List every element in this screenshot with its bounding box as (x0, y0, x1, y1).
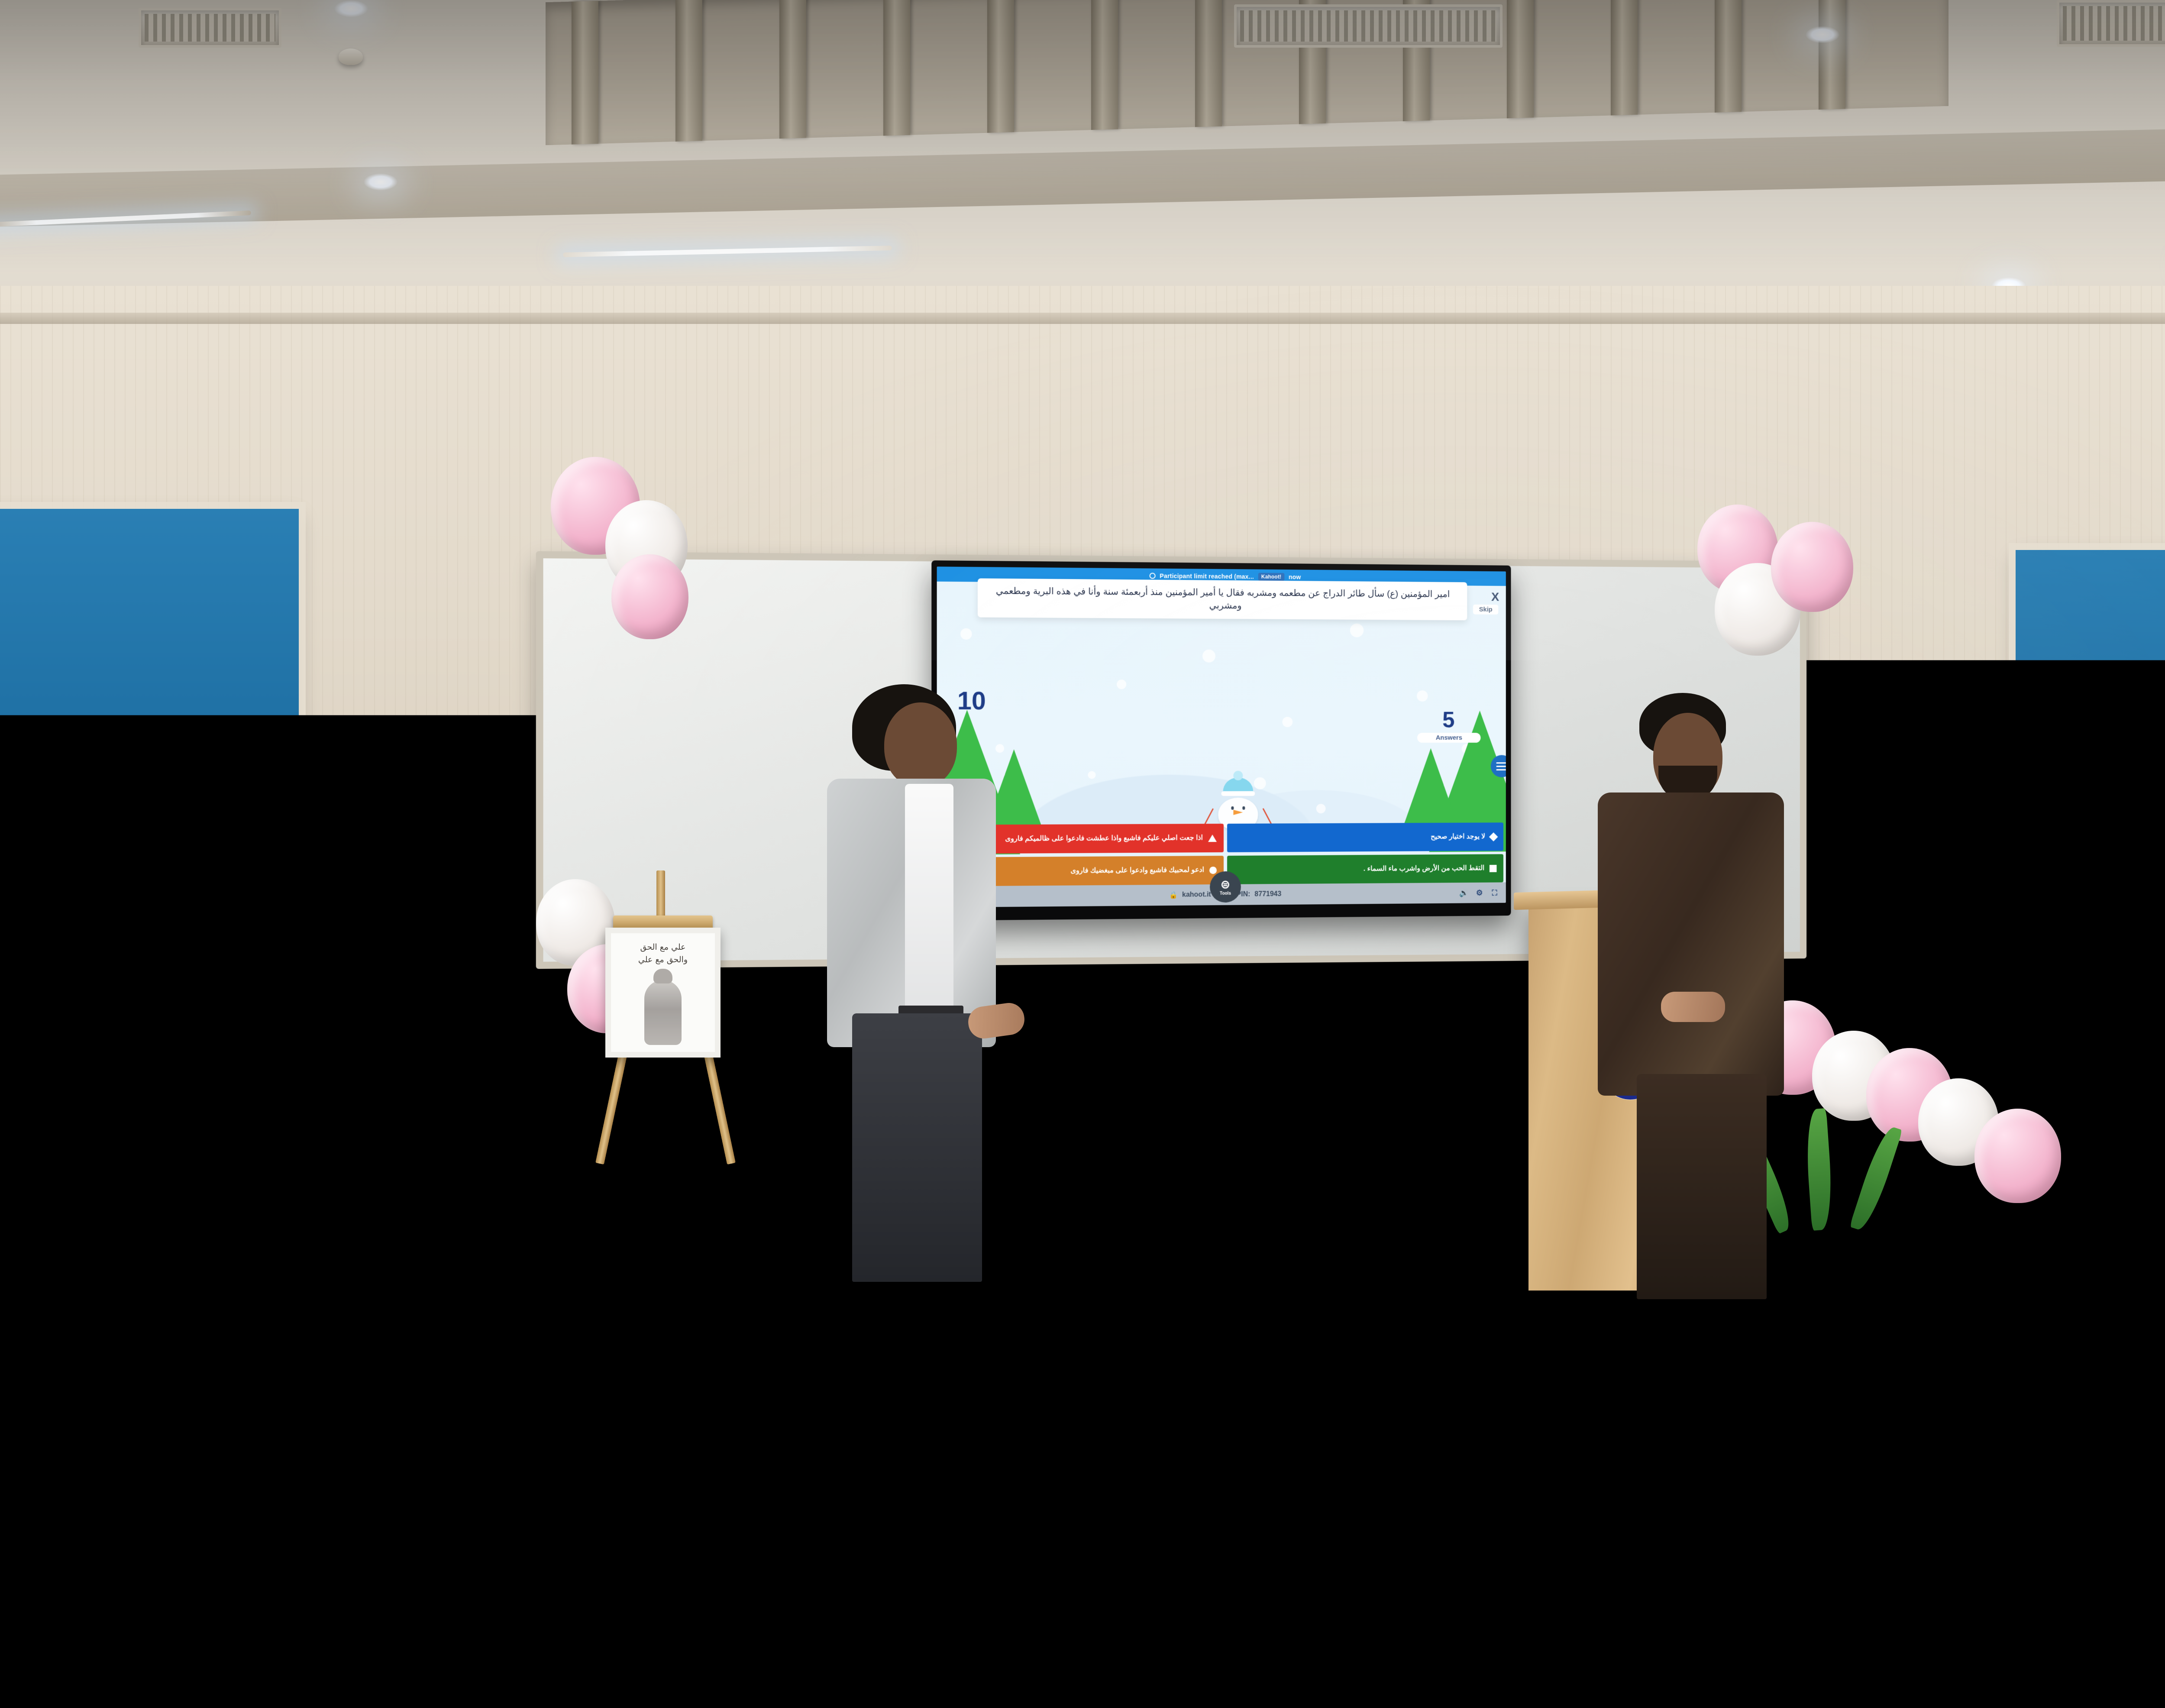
rankings-line: RANKINGS (490, 1645, 552, 1658)
green-word: Green (1496, 1625, 1561, 1647)
multirank-dots-icon: u (1602, 1601, 1705, 1637)
webometrics-line2: RANKING WEB (1243, 1626, 1425, 1648)
answer-option-square[interactable]: التقط الحب من الأرض واشرب ماء السماء . (1227, 854, 1503, 884)
balloon (1771, 522, 1853, 612)
dark-suit-jacket (1598, 793, 1784, 1096)
answers-count: 5 (1423, 707, 1474, 733)
led-strip-mid (563, 246, 892, 257)
sustainability-line1: Sustainability (837, 1619, 992, 1641)
university-rankings-banner: QS TEACHING ★ ★ ★ ★ ★ GLOBALLY LOCALLY T… (0, 1522, 2165, 1708)
locally-badge: LOCALLY (1788, 1566, 1862, 1584)
photograph-scene: Participant limit reached (max... Kahoot… (0, 0, 2165, 1708)
ieu-gear-emblem (1797, 1594, 1862, 1671)
sdg-color-bar (490, 1659, 552, 1671)
answer-option-text: التقط الحب من الأرض واشرب ماء السماء . (1364, 864, 1484, 873)
wall-panel-blue-left (0, 509, 299, 1080)
hands-holding-microphone (1661, 992, 1725, 1022)
qs-stars-rating-logo: QS TEACHING ★ ★ ★ ★ ★ (27, 1585, 140, 1668)
sustainability-text: Times Higher Education Sustainability Im… (837, 1609, 992, 1663)
rur-sub2: UNIVERSITY (1114, 1643, 1170, 1652)
balloon (611, 554, 688, 639)
qs-mark: QS (27, 1585, 140, 1668)
the-world-university-rankings-logo: T H E WORLD UNIVERSITY RANKINGS (582, 1629, 744, 1673)
answer-option-text: ادعو لمحبيك فاشبع وادعوا على مبغضيك فارو… (1070, 866, 1204, 875)
info-icon (1149, 573, 1155, 579)
greenmetric-stack: Green Metric (1496, 1625, 1561, 1670)
white-shirt (905, 784, 953, 1009)
square-icon (1490, 865, 1497, 872)
qs-text: QS (36, 1593, 103, 1636)
star-icon: ★ (193, 1673, 231, 1708)
round-university-ranking-logo: RUR ROUND UNIVERSITY RANKING (1035, 1599, 1170, 1672)
multirank-word: multirank (1602, 1637, 1745, 1670)
display-controls[interactable]: 🔊 ⚙ ⛶ (1460, 888, 1499, 897)
volume-icon[interactable]: 🔊 (1460, 888, 1469, 898)
qs-teaching-label: TEACHING (140, 1640, 241, 1668)
ieu-logo: IEU (1797, 1594, 1933, 1671)
smoke-detector-left (339, 49, 363, 65)
the-world-stack: WORLD UNIVERSITY RANKINGS (679, 1629, 744, 1673)
the-eyebrow: Times Higher Education (837, 1609, 992, 1619)
metric-word: Metric (1496, 1647, 1561, 1670)
wall-panel-blue-right (2016, 550, 2165, 1109)
ac-vent-left (139, 8, 281, 48)
university-line: UNIVERSITY (679, 1643, 744, 1656)
qs-star-row: ★ ★ ★ ★ ★ (27, 1673, 231, 1708)
bar-chart-icon (1404, 1600, 1430, 1628)
triangle-icon (1208, 835, 1217, 842)
kahoot-site: kahoot.it (1182, 891, 1211, 899)
artwork-calligraphy: علي مع الحق والحق مع علي (611, 941, 715, 966)
star-icon: ★ (68, 1673, 107, 1708)
sustainability-hex-icon (775, 1601, 830, 1670)
u-multirank-logo: u multirank (1602, 1601, 1745, 1670)
diamond-icon (1489, 832, 1498, 841)
answer-option-text: اذا جعت اصلي عليكم فاشبع واذا عطشت فادعو… (1005, 834, 1203, 844)
the-letters: T H E (582, 1635, 676, 1673)
ceiling-downlight-3 (1806, 26, 1839, 43)
tools-button[interactable]: ⊜ Tools (1210, 871, 1241, 903)
circle-icon (1209, 867, 1217, 874)
star-icon: ★ (152, 1673, 190, 1708)
rur-swirl-icon (1035, 1599, 1108, 1672)
game-pin-value: 8771943 (1254, 890, 1281, 898)
gear-icon (1809, 1611, 1850, 1653)
notice-suffix: now (1289, 573, 1301, 580)
ui-greenmetric-logo: UI Green Metric World University Ranking… (1446, 1625, 1561, 1670)
webometrics-logo: Webometrics RANKING WEB OF UNIVERSITIES (1243, 1606, 1425, 1670)
ac-vent-right (2057, 0, 2165, 47)
globally-badge: GLOBALLY (342, 1566, 426, 1584)
rur-acronym: RUR (1114, 1609, 1170, 1634)
rur-sub3: RANKING (1114, 1652, 1170, 1661)
webometrics-line1: Webometrics (1243, 1606, 1425, 1626)
head (884, 702, 957, 787)
triangle-icon (1819, 1624, 1840, 1642)
fullscreen-icon[interactable]: ⛶ (1490, 888, 1499, 897)
settings-icon[interactable]: ⚙ (1475, 888, 1484, 898)
tools-icon: ⊜ (1221, 878, 1230, 891)
the-letters: T H E (394, 1635, 488, 1673)
multirank-u: u (1667, 1601, 1704, 1637)
close-icon[interactable]: X (1491, 590, 1499, 604)
lecture-hall: Participant limit reached (max... Kahoot… (0, 0, 2165, 1708)
greenmetric-sub: World University Rankings (1449, 1673, 1550, 1683)
globe-icon (1048, 1612, 1094, 1658)
ceiling (0, 0, 2165, 329)
ceiling-downlight-1 (334, 0, 368, 17)
ieu-acronym: IEU (1868, 1614, 1933, 1650)
the-impact-rankings-logo: T H E IMPACT RANKINGS (394, 1631, 552, 1673)
world-line: WORLD (679, 1629, 744, 1642)
framed-artwork: علي مع الحق والحق مع علي (605, 928, 721, 1058)
kahoot-logo-badge: Kahoot! (1258, 573, 1284, 581)
tools-label: Tools (1220, 891, 1231, 896)
quiz-question-text: امير المؤمنين (ع) سأل طائر الدراج عن مطع… (978, 578, 1467, 620)
skip-button[interactable]: Skip (1473, 605, 1498, 615)
artwork-easel: علي مع الحق والحق مع علي (592, 888, 744, 1070)
ceiling-downlight-2 (364, 173, 397, 191)
sustainability-line2: Impact Network (837, 1641, 992, 1663)
webometrics-line3: OF UNIVERSITIES (1243, 1648, 1425, 1670)
rankings-line: RANKINGS (679, 1658, 744, 1671)
the-impact-stack: IMPACT RANKINGS (490, 1631, 552, 1673)
answer-option-text: لا يوجد اختيار صحيح (1431, 833, 1485, 841)
notice-text: Participant limit reached (max... (1160, 573, 1254, 580)
answers-label: Answers (1417, 733, 1480, 743)
star-icon: ★ (110, 1673, 148, 1708)
star-icon: ★ (27, 1673, 65, 1708)
lock-icon: 🔒 (1169, 891, 1178, 899)
ui-mark: UI (1446, 1627, 1492, 1667)
ac-vent-center (1234, 4, 1503, 48)
nrqiu-acronym: NRQIU (1957, 1625, 2083, 1671)
warrior-silhouette-drawing (644, 980, 682, 1045)
answer-option-diamond[interactable]: لا يوجد اختيار صحيح (1227, 822, 1503, 852)
impact-line: IMPACT (490, 1631, 552, 1644)
sustainability-impact-network-logo: Times Higher Education Sustainability Im… (775, 1601, 992, 1670)
rur-text: RUR ROUND UNIVERSITY RANKING (1114, 1609, 1170, 1661)
